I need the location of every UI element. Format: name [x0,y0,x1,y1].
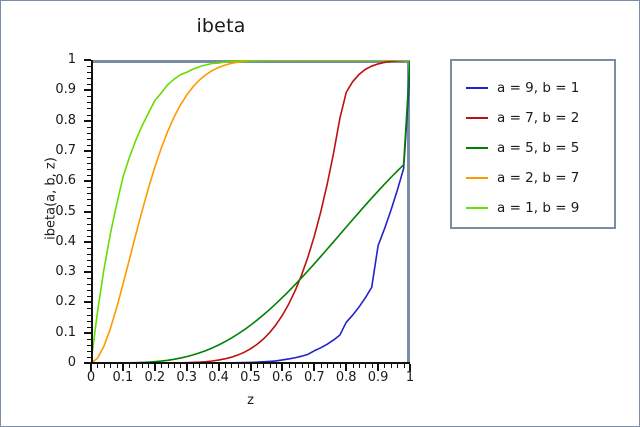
x-tick-minor [359,364,360,368]
y-tick-minor [87,187,91,188]
y-tick-minor [87,199,91,200]
y-tick-minor [87,96,91,97]
y-tick-major [84,59,91,61]
y-tick-minor [87,266,91,267]
x-tick-minor [174,364,175,368]
legend-line-swatch-icon [466,177,488,179]
x-tick-minor [231,364,232,368]
legend-line-swatch-icon [466,117,488,119]
y-tick-minor [87,115,91,116]
y-tick-minor [87,290,91,291]
legend-line-swatch-icon [466,147,488,149]
x-tick-minor [104,364,105,368]
x-tick-minor [353,364,354,368]
x-tick-minor [168,364,169,368]
y-tick-minor [87,308,91,309]
y-tick-minor [87,218,91,219]
y-tick-minor [87,102,91,103]
y-tick-major [84,241,91,243]
y-tick-minor [87,66,91,67]
legend-line-swatch-icon [466,207,488,209]
x-axis-title: z [91,393,410,408]
y-tick-minor [87,224,91,225]
y-tick-major [84,150,91,152]
x-tick-minor [238,364,239,368]
x-tick-minor [212,364,213,368]
x-tick-minor [302,364,303,368]
y-tick-minor [87,230,91,231]
y-tick-minor [87,193,91,194]
x-tick-minor [136,364,137,368]
y-tick-label: 0 [16,356,76,369]
y-tick-minor [87,133,91,134]
x-tick-minor [397,364,398,368]
legend-line-swatch-icon [466,87,488,89]
y-tick-label: 0.1 [16,326,76,339]
legend-box: a = 9, b = 1a = 7, b = 2a = 5, b = 5a = … [450,59,616,229]
legend-item-label: a = 1, b = 9 [497,200,579,216]
chart-page: ibeta 00.10.20.30.40.50.60.70.80.9100.10… [0,0,640,427]
x-tick-minor [110,364,111,368]
y-tick-minor [87,163,91,164]
x-tick-minor [340,364,341,368]
y-tick-major [84,180,91,182]
y-tick-minor [87,254,91,255]
x-tick-minor [257,364,258,368]
x-tick-minor [327,364,328,368]
y-axis-line [91,60,93,364]
x-tick-minor [276,364,277,368]
y-tick-minor [87,278,91,279]
x-tick-minor [321,364,322,368]
y-tick-minor [87,351,91,352]
x-tick-minor [404,364,405,368]
y-tick-minor [87,284,91,285]
y-tick-minor [87,157,91,158]
x-tick-minor [97,364,98,368]
series-line [91,60,410,363]
x-tick-minor [365,364,366,368]
legend-item-label: a = 5, b = 5 [497,140,579,156]
y-tick-minor [87,357,91,358]
y-tick-minor [87,72,91,73]
y-tick-major [84,301,91,303]
y-tick-minor [87,169,91,170]
y-tick-major [84,211,91,213]
y-tick-minor [87,108,91,109]
y-tick-minor [87,296,91,297]
page-title: ibeta [1,15,441,37]
legend-item[interactable]: a = 7, b = 2 [452,103,614,133]
series-line [91,60,410,363]
x-tick-minor [270,364,271,368]
x-tick-minor [244,364,245,368]
series-line [91,60,410,363]
legend-item[interactable]: a = 2, b = 7 [452,163,614,193]
y-tick-minor [87,315,91,316]
y-tick-minor [87,321,91,322]
x-tick-minor [180,364,181,368]
x-tick-minor [289,364,290,368]
x-tick-minor [129,364,130,368]
x-tick-minor [263,364,264,368]
y-tick-minor [87,78,91,79]
x-tick-minor [161,364,162,368]
x-tick-minor [199,364,200,368]
legend-item-label: a = 9, b = 1 [497,80,579,96]
y-tick-minor [87,205,91,206]
y-tick-major [84,271,91,273]
x-tick-label: 1 [380,371,440,384]
legend-item[interactable]: a = 9, b = 1 [452,73,614,103]
y-axis-title: ibeta(a, b, z) [44,79,59,319]
curves-layer [91,60,410,363]
y-tick-minor [87,145,91,146]
y-tick-minor [87,139,91,140]
y-tick-label: 1 [16,53,76,66]
y-tick-minor [87,260,91,261]
x-tick-minor [372,364,373,368]
y-tick-minor [87,339,91,340]
x-tick-minor [206,364,207,368]
x-tick-minor [193,364,194,368]
x-tick-minor [308,364,309,368]
legend-item[interactable]: a = 1, b = 9 [452,193,614,223]
y-tick-minor [87,327,91,328]
y-tick-major [84,120,91,122]
series-line [91,72,410,363]
y-tick-minor [87,236,91,237]
y-tick-minor [87,84,91,85]
y-tick-major [84,89,91,91]
x-tick-minor [384,364,385,368]
legend-item[interactable]: a = 5, b = 5 [452,133,614,163]
x-tick-minor [117,364,118,368]
x-tick-minor [148,364,149,368]
y-tick-minor [87,175,91,176]
x-tick-minor [295,364,296,368]
y-tick-minor [87,345,91,346]
y-tick-major [84,332,91,334]
x-tick-minor [225,364,226,368]
x-tick-minor [142,364,143,368]
legend-item-label: a = 7, b = 2 [497,110,579,126]
x-tick-minor [333,364,334,368]
x-tick-minor [391,364,392,368]
series-line [91,60,410,363]
legend-item-label: a = 2, b = 7 [497,170,579,186]
y-tick-minor [87,248,91,249]
y-tick-minor [87,127,91,128]
